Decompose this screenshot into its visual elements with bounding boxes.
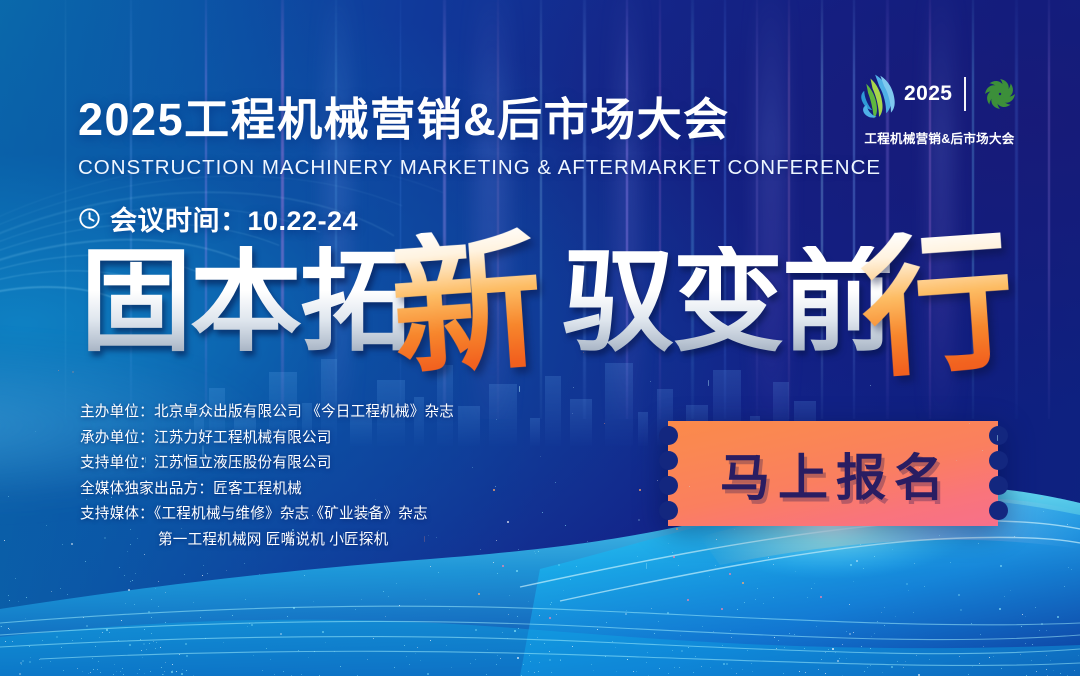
ambient-mote: [969, 423, 970, 424]
conference-title-cn: 2025工程机械营销&后市场大会: [78, 96, 778, 145]
wave-particle: [657, 480, 658, 481]
wave-particle: [968, 674, 969, 675]
wave-particle: [1067, 524, 1068, 525]
wave-particle: [958, 594, 960, 596]
wave-particle: [325, 642, 326, 643]
wave-particle: [681, 650, 683, 652]
logo-caption: 工程机械营销&后市场大会: [857, 128, 1022, 147]
wave-particle: [1039, 630, 1040, 631]
wave-particle: [565, 525, 566, 526]
wave-particle: [160, 647, 161, 648]
wave-particle: [659, 668, 660, 669]
wave-particle: [1053, 670, 1054, 671]
wave-particle: [1031, 660, 1032, 661]
wave-particle: [81, 638, 82, 639]
wave-particle: [417, 647, 418, 648]
ticket-notch: [989, 451, 1008, 470]
wave-particle: [135, 573, 136, 574]
wave-particle: [853, 581, 854, 582]
fan-swoosh-icon: [857, 63, 901, 125]
wave-particle: [891, 666, 893, 668]
ambient-mote: [265, 412, 266, 413]
organizer-line: 第一工程机械网 匠嘴说机 小匠探机: [80, 528, 500, 554]
wave-particle: [22, 660, 24, 662]
wave-particle: [1025, 643, 1026, 644]
wave-particle: [304, 575, 305, 576]
wave-particle: [128, 589, 130, 591]
wave-particle: [616, 671, 617, 672]
wave-particle: [805, 672, 806, 673]
wave-particle: [752, 671, 753, 672]
organizer-line: 支持单位：江苏恒立液压股份有限公司: [80, 451, 500, 477]
organizer-line: 承办单位：江苏力好工程机械有限公司: [80, 426, 500, 452]
poster-header: 2025工程机械营销&后市场大会 CONSTRUCTION MACHINERY …: [78, 96, 778, 238]
ambient-mote: [534, 551, 535, 552]
wave-particle: [989, 657, 990, 658]
ambient-mote: [35, 431, 36, 432]
wave-particle: [849, 633, 851, 635]
wave-particle: [555, 482, 556, 483]
logo-divider: [964, 77, 966, 111]
wave-particle: [1046, 630, 1047, 631]
ambient-mote: [480, 549, 481, 550]
wave-particle: [789, 633, 790, 634]
light-streak: [1048, 0, 1050, 419]
wave-particle: [122, 668, 123, 669]
slogan-char: 行: [857, 225, 1019, 387]
wave-particle: [1021, 626, 1022, 627]
wave-particle: [262, 670, 263, 671]
wave-particle: [93, 669, 94, 670]
wave-particle: [860, 544, 861, 545]
wave-particle: [97, 669, 98, 670]
slogan-char: 变: [672, 246, 784, 358]
ambient-mote: [650, 381, 651, 382]
wave-particle: [794, 634, 795, 635]
wave-particle: [799, 671, 800, 672]
ambient-mote: [202, 445, 204, 457]
wave-particle: [438, 572, 439, 573]
wave-particle: [839, 658, 840, 659]
wave-particle: [1004, 596, 1005, 597]
wave-particle: [612, 641, 613, 642]
conference-logo: 2025 工程机械营销&后市场大会: [857, 58, 1022, 158]
wave-particle: [134, 604, 135, 605]
wave-particle: [46, 525, 47, 526]
wave-particle: [882, 672, 883, 673]
wave-particle: [939, 535, 940, 536]
ticket-notch: [989, 476, 1008, 495]
wave-particle: [530, 644, 531, 645]
wave-particle: [563, 590, 564, 591]
slogan-char: 固: [80, 246, 192, 358]
wave-particle: [1000, 565, 1002, 567]
wave-particle: [874, 633, 875, 634]
wave-particle: [950, 562, 951, 563]
wave-particle: [576, 566, 577, 567]
wave-particle: [518, 628, 519, 629]
wave-particle: [502, 632, 503, 633]
wave-particle: [570, 579, 571, 580]
organizer-line: 主办单位：北京卓众出版有限公司 《今日工程机械》杂志: [80, 400, 500, 426]
wave-particle: [9, 600, 10, 601]
wave-particle: [56, 636, 58, 638]
wave-particle: [701, 666, 702, 667]
slogan-char: 本: [190, 246, 302, 358]
wave-particle: [908, 590, 909, 591]
wave-particle: [983, 646, 984, 647]
wave-particle: [496, 664, 497, 665]
wave-particle-warm: [673, 556, 675, 558]
wave-particle: [678, 565, 679, 566]
wave-particle: [420, 660, 421, 661]
wave-particle: [804, 648, 805, 649]
ticket-notch: [659, 451, 678, 470]
wave-particle: [979, 663, 980, 664]
slogan-char: 驭: [562, 246, 674, 358]
wave-particle: [783, 673, 784, 674]
organizer-line: 支持媒体：《工程机械与维修》杂志《矿业装备》杂志: [80, 502, 500, 528]
wave-particle: [971, 623, 972, 624]
wave-particle: [475, 629, 477, 631]
wave-particle: [120, 671, 121, 672]
wave-particle: [141, 650, 142, 651]
wave-particle: [42, 640, 43, 641]
wave-particle: [30, 657, 31, 658]
wave-particle: [72, 640, 73, 641]
wave-particle: [245, 599, 246, 600]
green-wreath-icon: [978, 65, 1022, 123]
ambient-mote: [368, 511, 369, 517]
wave-particle: [92, 658, 93, 659]
wave-particle: [430, 640, 431, 641]
wave-particle: [406, 656, 407, 657]
wave-particle: [185, 643, 187, 645]
wave-particle: [1060, 673, 1061, 674]
register-now-button[interactable]: 马上报名: [668, 421, 998, 526]
ambient-mote: [343, 533, 344, 539]
wave-particle: [556, 614, 557, 615]
wave-particle: [870, 665, 871, 666]
register-now-label: 马上报名: [668, 421, 998, 526]
wave-particle: [18, 601, 19, 602]
wave-particle: [15, 578, 16, 579]
wave-particle: [39, 659, 40, 660]
wave-particle: [537, 637, 538, 638]
wave-particle: [223, 642, 224, 643]
wave-particle: [722, 645, 723, 646]
wave-particle: [778, 640, 779, 641]
wave-particle: [528, 671, 529, 672]
ticket-notch: [989, 426, 1008, 445]
wave-particle-warm: [478, 593, 480, 595]
wave-particle: [176, 671, 177, 672]
wave-particle: [9, 629, 10, 630]
wave-particle: [1032, 644, 1033, 645]
wave-particle: [861, 646, 862, 647]
wave-particle: [29, 661, 31, 663]
wave-particle: [591, 664, 592, 665]
ambient-mote: [587, 541, 588, 542]
wave-particle: [763, 603, 764, 604]
wave-particle: [551, 602, 552, 603]
logo-year: 2025: [904, 82, 952, 106]
wave-particle: [85, 561, 86, 562]
wave-particle: [399, 605, 400, 606]
wave-particle-warm: [549, 617, 551, 619]
wave-particle: [906, 583, 908, 585]
wave-particle: [1074, 670, 1075, 671]
ticket-notch: [659, 476, 678, 495]
conference-title-en: CONSTRUCTION MACHINERY MARKETING & AFTER…: [78, 156, 778, 180]
wave-particle: [679, 667, 680, 668]
wave-particle: [881, 612, 882, 613]
wave-particle: [846, 658, 847, 659]
wave-particle: [77, 668, 78, 669]
wave-particle: [247, 626, 248, 627]
clock-icon: [78, 207, 101, 230]
conference-date-label: 会议时间：10.22-24: [110, 199, 358, 238]
wave-particle-warm: [820, 596, 822, 598]
organizer-list: 主办单位：北京卓众出版有限公司 《今日工程机械》杂志承办单位：江苏力好工程机械有…: [80, 400, 500, 553]
ticket-notch: [989, 501, 1008, 520]
wave-particle: [334, 651, 335, 652]
wave-particle: [846, 631, 847, 632]
wave-particle: [549, 651, 550, 652]
ambient-mote: [708, 380, 709, 386]
wave-particle: [680, 635, 681, 636]
wave-particle: [1057, 616, 1059, 618]
wave-particle: [534, 672, 535, 673]
ambient-mote: [982, 450, 983, 451]
wave-particle: [768, 557, 769, 558]
wave-particle: [114, 664, 115, 665]
wave-particle: [929, 659, 930, 660]
wave-particle: [514, 630, 516, 632]
wave-particle: [747, 650, 748, 651]
wave-particle: [755, 599, 756, 600]
wave-particle: [730, 630, 731, 631]
wave-particle: [530, 661, 531, 662]
wave-particle: [832, 648, 834, 650]
slogan-char: 新: [387, 225, 547, 385]
wave-particle: [731, 668, 732, 669]
wave-particle: [425, 599, 426, 600]
wave-particle: [825, 673, 826, 674]
ticket-notch: [659, 426, 678, 445]
wave-particle: [287, 616, 288, 617]
wave-particle: [373, 638, 374, 639]
wave-particle: [550, 604, 551, 605]
wave-particle: [867, 667, 868, 668]
wave-particle: [960, 609, 962, 611]
ambient-mote: [604, 423, 605, 424]
wave-particle: [1010, 590, 1011, 591]
wave-particle: [723, 663, 725, 665]
wave-particle: [1, 626, 2, 627]
ambient-mote: [997, 435, 998, 441]
wave-particle: [744, 602, 745, 603]
wave-particle: [773, 597, 774, 598]
ticket-notch: [659, 501, 678, 520]
wave-particle: [544, 643, 545, 644]
wave-particle: [856, 560, 858, 562]
logo-marks-row: 2025: [857, 58, 1022, 130]
wave-particle: [633, 671, 634, 672]
wave-particle: [529, 655, 530, 656]
wave-particle: [508, 614, 509, 615]
wave-particle: [100, 672, 101, 673]
wave-particle: [19, 673, 21, 675]
wave-particle: [688, 647, 689, 648]
wave-particle: [143, 643, 145, 645]
wave-particle: [446, 645, 447, 646]
wave-particle: [205, 638, 206, 639]
wave-particle: [636, 671, 637, 672]
wave-particle: [153, 641, 154, 642]
wave-particle: [266, 648, 267, 649]
main-slogan: 固本拓新驭变前行: [62, 246, 1022, 394]
conference-poster: 2025工程机械营销&后市场大会 CONSTRUCTION MACHINERY …: [0, 0, 1080, 676]
wave-particle: [155, 648, 156, 649]
wave-particle: [163, 674, 164, 675]
wave-particle: [493, 562, 494, 563]
wave-particle: [637, 556, 638, 557]
wave-particle: [776, 648, 777, 649]
wave-particle: [313, 601, 314, 602]
wave-particle: [132, 580, 133, 581]
wave-particle: [308, 657, 309, 658]
organizer-line: 全媒体独家出品方：匠客工程机械: [80, 477, 500, 503]
wave-particle: [357, 675, 358, 676]
wave-particle: [710, 667, 711, 668]
wave-particle: [535, 553, 536, 554]
wave-particle: [918, 674, 920, 676]
wave-particle: [1046, 669, 1047, 670]
wave-particle: [146, 649, 147, 650]
